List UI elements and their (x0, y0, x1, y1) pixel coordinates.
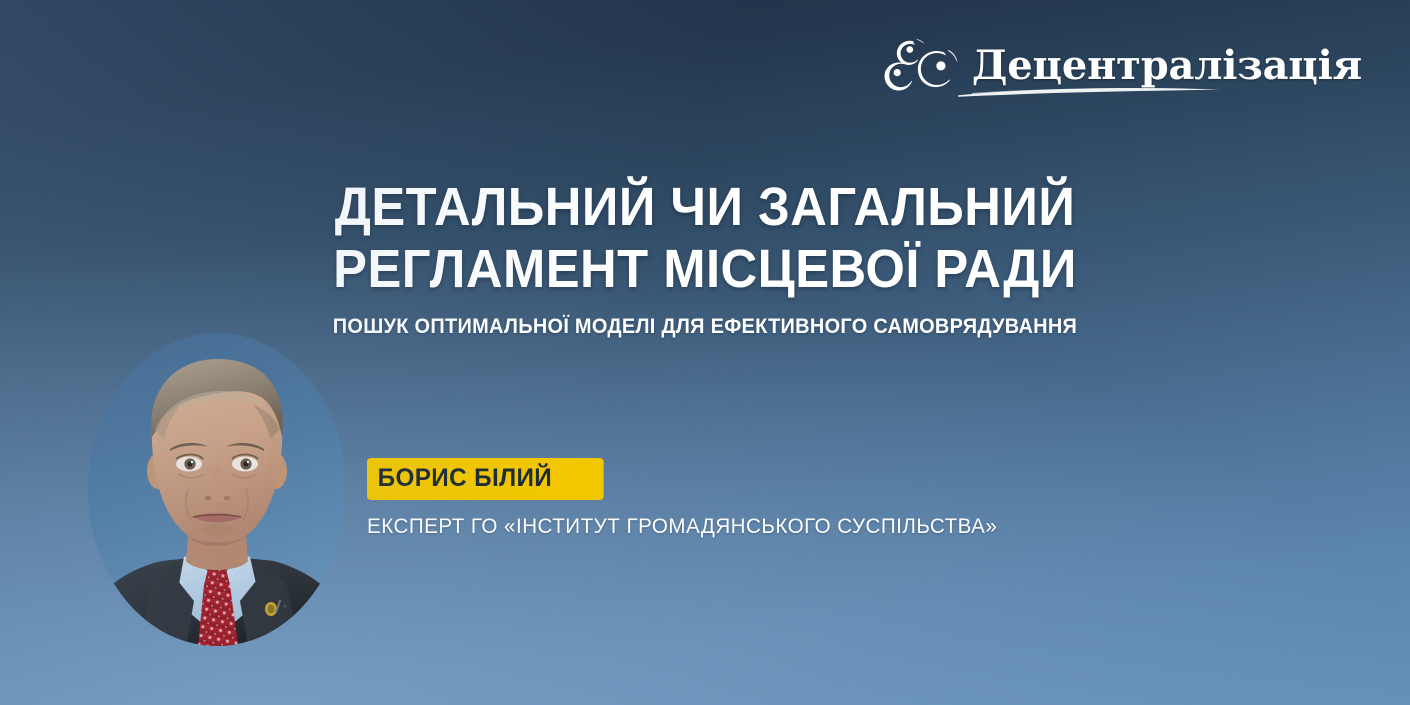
headline-block: ДЕТАЛЬНИЙ ЧИ ЗАГАЛЬНИЙ РЕГЛАМЕНТ МІСЦЕВО… (0, 176, 1410, 340)
title-line-2: РЕГЛАМЕНТ МІСЦЕВОЇ РАДИ (42, 238, 1367, 300)
speaker-role: ЕКСПЕРТ ГО «ІНСТИТУТ ГРОМАДЯНСЬКОГО СУСП… (367, 514, 997, 540)
logo-underline-swoosh (956, 85, 1224, 97)
three-brush-circles-icon (882, 38, 960, 94)
title-line-1: ДЕТАЛЬНИЙ ЧИ ЗАГАЛЬНИЙ (42, 176, 1367, 238)
speaker-portrait (88, 333, 346, 646)
speaker-info: БОРИС БІЛИЙ ЕКСПЕРТ ГО «ІНСТИТУТ ГРОМАДЯ… (367, 458, 1010, 540)
presentation-slide: Децентралізація ДЕТАЛЬНИЙ ЧИ ЗАГАЛЬНИЙ Р… (0, 0, 1410, 705)
brand-name: Децентралізація (972, 46, 1362, 86)
speaker-name-badge: БОРИС БІЛИЙ (367, 458, 604, 500)
brand-logo[interactable]: Децентралізація (882, 38, 1362, 94)
